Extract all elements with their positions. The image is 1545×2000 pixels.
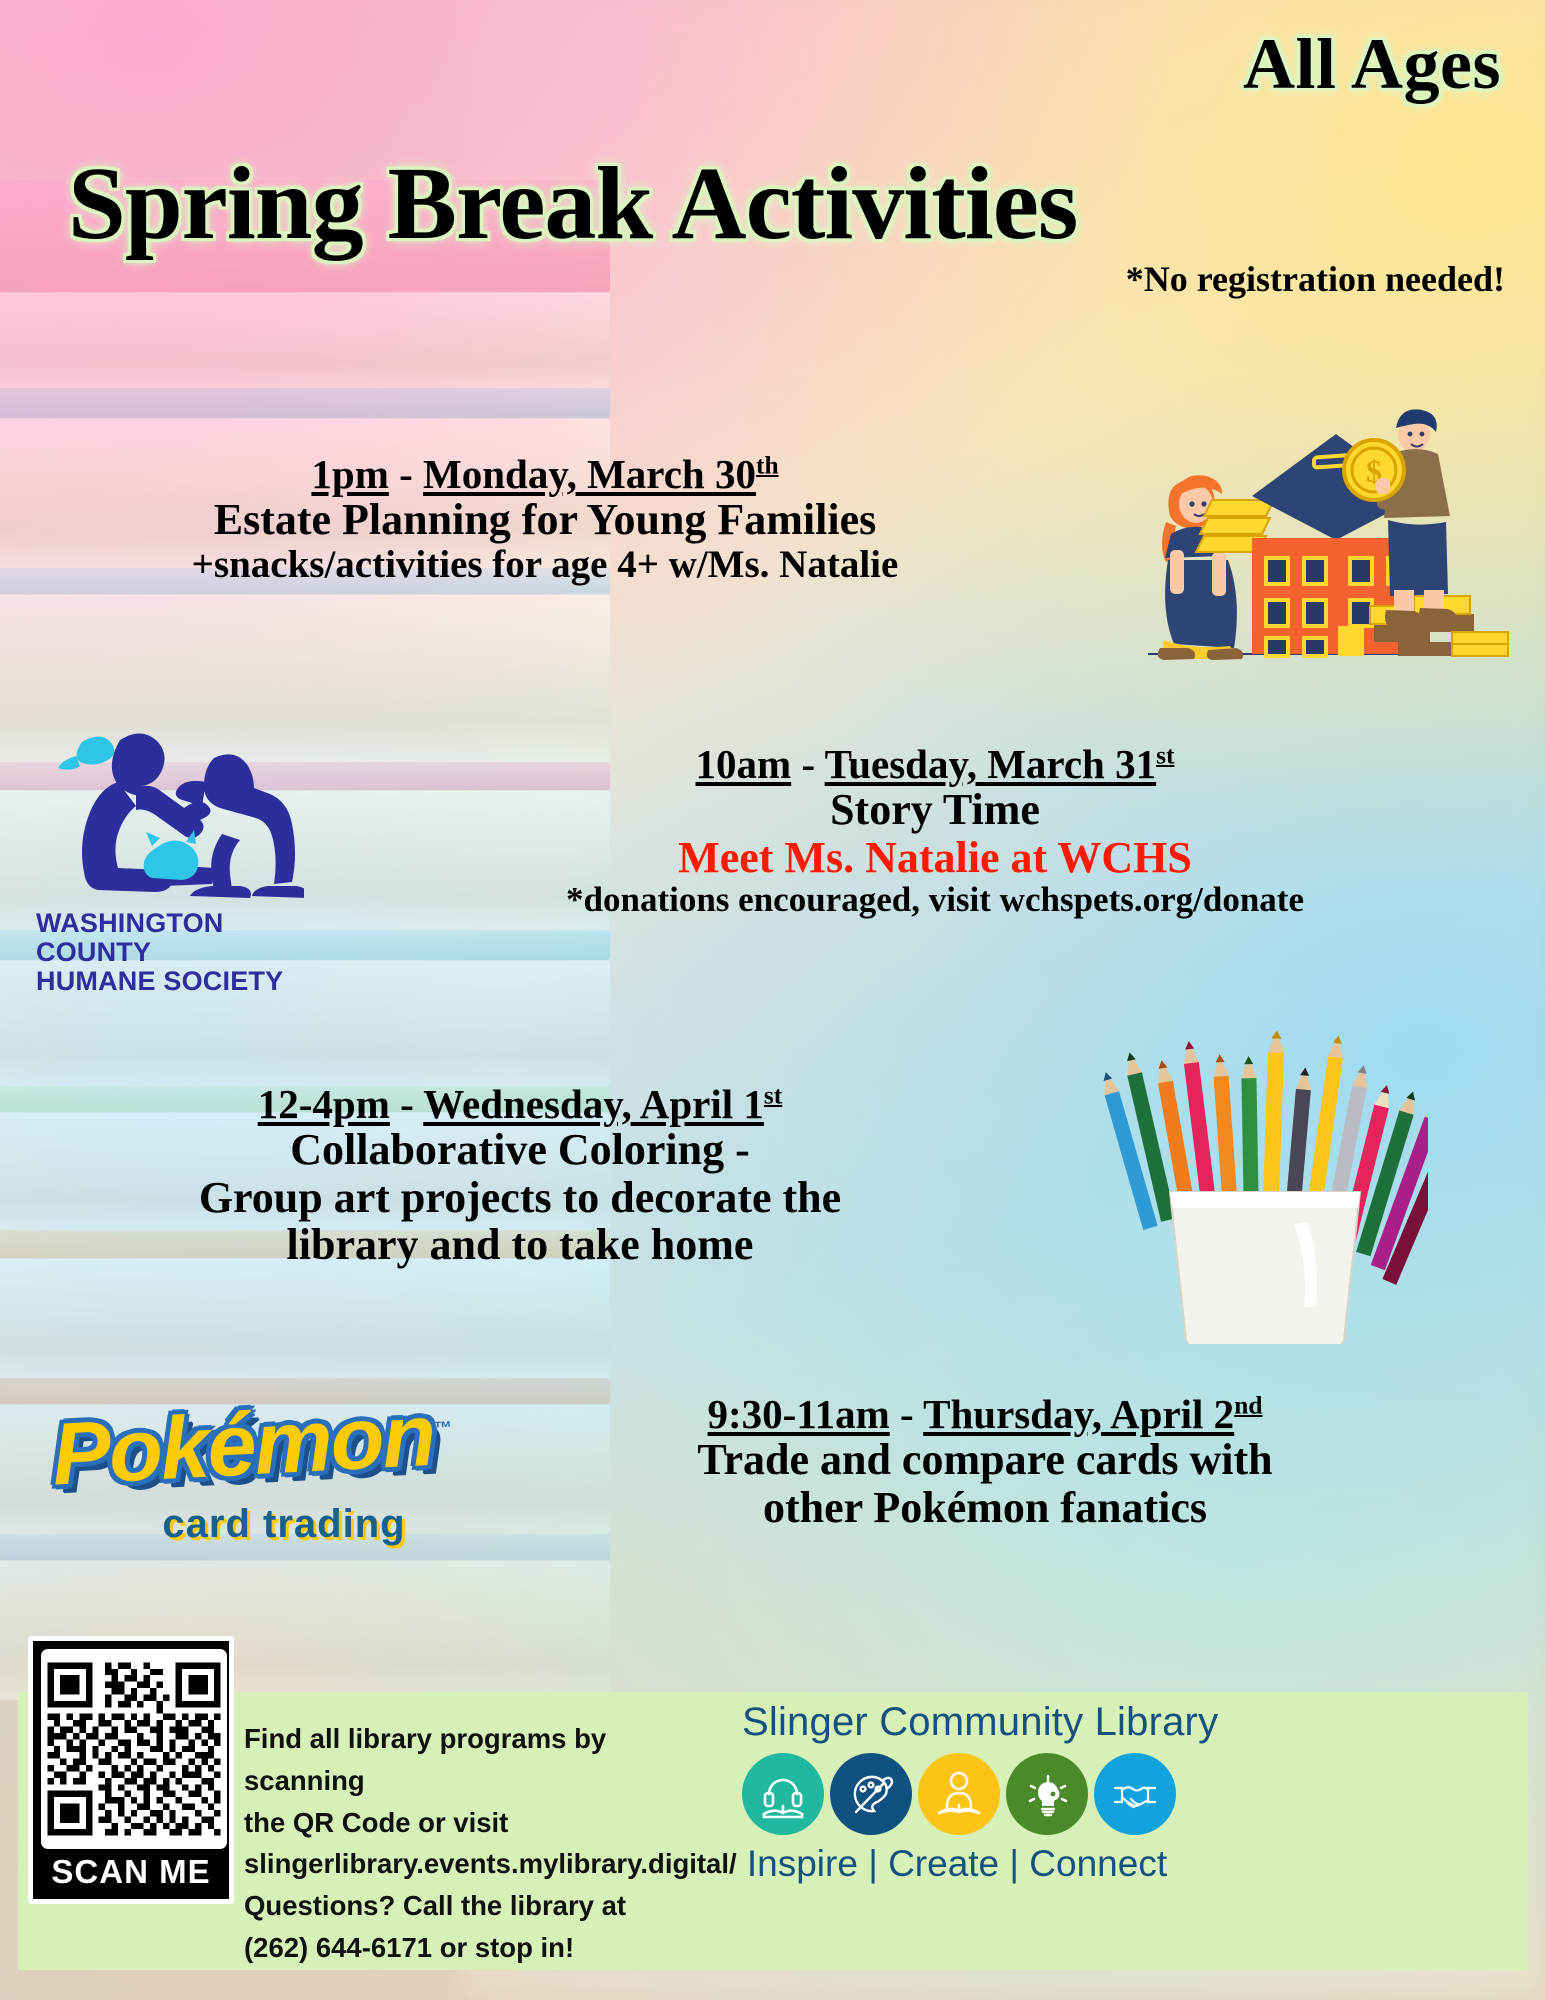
event-3-day: Wednesday, April 1 (423, 1081, 764, 1127)
event-2-day: Tuesday, March 31 (825, 741, 1156, 787)
event-2-line2: Story Time (340, 786, 1530, 834)
event-2-header: 10am - Tuesday, March 31st (340, 742, 1530, 786)
lightbulb-gear-icon (1006, 1753, 1088, 1835)
event-4-header: 9:30-11am - Thursday, April 2nd (440, 1392, 1530, 1436)
footer-line-1: Find all library programs by scanning (244, 1718, 724, 1802)
handshake-icon (1094, 1753, 1176, 1835)
estate-planning-illustration: $ (1108, 392, 1528, 662)
event-2-sep: - (791, 741, 824, 787)
library-value-icons (742, 1753, 1202, 1835)
event-1-line3: +snacks/activities for age 4+ w/Ms. Nata… (0, 544, 1090, 586)
qr-code-image (41, 1649, 227, 1849)
event-collaborative-coloring: 12-4pm - Wednesday, April 1st Collaborat… (70, 1082, 970, 1269)
event-2-highlight: Meet Ms. Natalie at WCHS (340, 834, 1530, 882)
headphones-book-icon (742, 1753, 824, 1835)
event-3-time: 12-4pm (258, 1081, 390, 1127)
wchs-logo: WASHINGTON COUNTY HUMANE SOCIETY (36, 722, 336, 996)
footer-line-2: the QR Code or visit (244, 1802, 724, 1844)
wchs-line1: WASHINGTON COUNTY (36, 908, 224, 967)
event-2-ordinal: st (1156, 741, 1174, 769)
event-1-header: 1pm - Monday, March 30th (0, 452, 1090, 496)
event-4-line2: Trade and compare cards with (440, 1436, 1530, 1484)
footer-instructions: Find all library programs by scanning th… (244, 1718, 724, 1969)
event-1-sep: - (389, 451, 423, 497)
event-3-ordinal: st (764, 1081, 782, 1109)
wchs-person-dog-icon (46, 722, 304, 907)
pokemon-subtitle: card trading (102, 1502, 466, 1547)
event-1-time: 1pm (311, 451, 388, 497)
event-story-time: 10am - Tuesday, March 31st Story Time Me… (340, 742, 1530, 919)
slinger-community-library-logo: Slinger Community Library (742, 1700, 1202, 1885)
footer-line-4: Questions? Call the library at (244, 1885, 724, 1927)
page-title: Spring Break Activities (68, 152, 1188, 256)
event-3-line4: library and to take home (70, 1221, 970, 1269)
event-2-time: 10am (696, 741, 792, 787)
event-1-line2: Estate Planning for Young Families (0, 496, 1090, 544)
footer-line-3: slingerlibrary.events.mylibrary.digital/ (244, 1843, 724, 1885)
event-3-line2: Collaborative Coloring - (70, 1126, 970, 1174)
event-estate-planning: 1pm - Monday, March 30th Estate Planning… (0, 452, 1090, 586)
no-registration-note: *No registration needed! (1126, 258, 1505, 300)
wchs-line2: HUMANE SOCIETY (36, 966, 283, 996)
pokemon-card-trading-logo: Pokémon™ card trading (46, 1400, 466, 1547)
event-1-ordinal: th (756, 451, 779, 479)
event-4-ordinal: nd (1234, 1391, 1262, 1419)
trademark-icon: ™ (433, 1418, 450, 1439)
event-pokemon-card-trading: 9:30-11am - Thursday, April 2nd Trade an… (440, 1392, 1530, 1531)
library-tagline: Inspire | Create | Connect (742, 1843, 1172, 1885)
event-1-day: Monday, March 30 (423, 451, 756, 497)
all-ages-label: All Ages (1243, 28, 1501, 100)
pokemon-wordmark: Pokémon (50, 1385, 437, 1504)
event-4-line3: other Pokémon fanatics (440, 1484, 1530, 1532)
palette-brush-icon (830, 1753, 912, 1835)
library-name: Slinger Community Library (742, 1700, 1202, 1745)
event-3-header: 12-4pm - Wednesday, April 1st (70, 1082, 970, 1126)
event-4-sep: - (890, 1391, 923, 1437)
event-2-note: *donations encouraged, visit wchspets.or… (340, 881, 1530, 919)
event-4-day: Thursday, April 2 (923, 1391, 1234, 1437)
event-3-sep: - (390, 1081, 423, 1127)
qr-code-block[interactable]: SCAN ME (28, 1636, 234, 1904)
footer-line-5: (262) 644-6171 or stop in! (244, 1927, 724, 1969)
event-4-time: 9:30-11am (708, 1391, 890, 1437)
person-reading-icon (918, 1753, 1000, 1835)
colored-pencils-cup (1098, 1024, 1428, 1344)
poster-root: All Ages Spring Break Activities *No reg… (0, 0, 1545, 2000)
scan-me-label: SCAN ME (33, 1853, 229, 1891)
event-3-line3: Group art projects to decorate the (70, 1174, 970, 1222)
